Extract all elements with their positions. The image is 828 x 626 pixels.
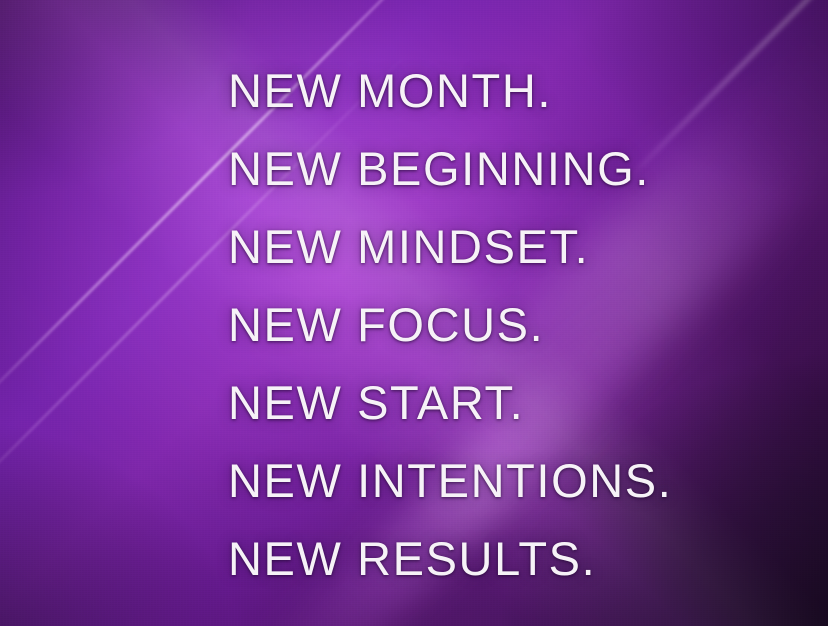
quote-line-5: NEW START. (228, 364, 788, 442)
quote-text-block: NEW MONTH. NEW BEGINNING. NEW MINDSET. N… (228, 52, 788, 598)
motivational-quote-poster: NEW MONTH. NEW BEGINNING. NEW MINDSET. N… (0, 0, 828, 626)
quote-line-3: NEW MINDSET. (228, 208, 788, 286)
quote-line-7: NEW RESULTS. (228, 520, 788, 598)
quote-line-1: NEW MONTH. (228, 52, 788, 130)
quote-line-6: NEW INTENTIONS. (228, 442, 788, 520)
quote-line-2: NEW BEGINNING. (228, 130, 788, 208)
quote-line-4: NEW FOCUS. (228, 286, 788, 364)
